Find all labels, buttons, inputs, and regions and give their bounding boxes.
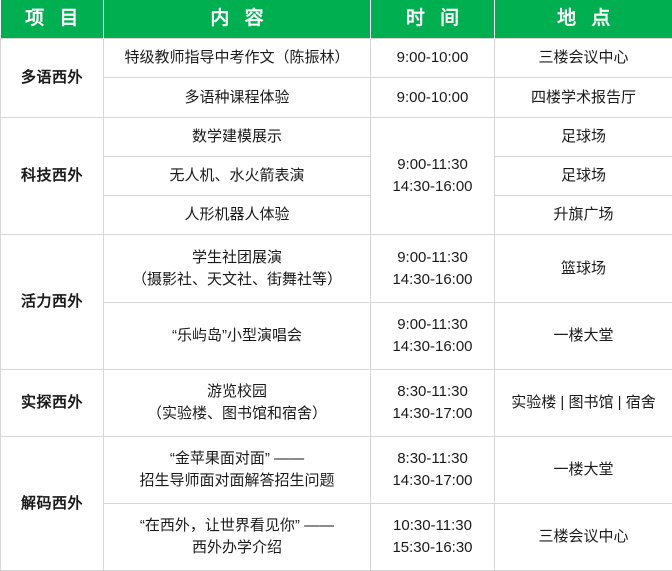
- table-row: 多语西外特级教师指导中考作文（陈振林）9:00-10:00三楼会议中心: [1, 39, 672, 78]
- location-cell: 篮球场: [495, 235, 672, 302]
- content-cell: 多语种课程体验: [104, 78, 371, 117]
- table-row: 解码西外“金苹果面对面” —— 招生导师面对面解答招生问题8:30-11:30 …: [1, 436, 672, 503]
- content-cell: “在西外，让世界看见你” —— 西外办学介绍: [104, 503, 371, 570]
- time-cell: 9:00-10:00: [371, 39, 495, 78]
- table-header-row: 项 目 内 容 时 间 地 点: [1, 0, 672, 39]
- project-cell: 多语西外: [1, 39, 104, 118]
- column-header-content: 内 容: [104, 0, 371, 39]
- activity-schedule-table: 项 目 内 容 时 间 地 点 多语西外特级教师指导中考作文（陈振林）9:00-…: [0, 0, 672, 571]
- table-body: 多语西外特级教师指导中考作文（陈振林）9:00-10:00三楼会议中心多语种课程…: [1, 39, 672, 571]
- time-cell: 8:30-11:30 14:30-17:00: [371, 369, 495, 436]
- location-cell: 足球场: [495, 156, 672, 195]
- location-cell: 一楼大堂: [495, 436, 672, 503]
- content-cell: 无人机、水火箭表演: [104, 156, 371, 195]
- location-cell: 三楼会议中心: [495, 39, 672, 78]
- project-cell: 科技西外: [1, 117, 104, 235]
- column-header-location: 地 点: [495, 0, 672, 39]
- project-cell: 解码西外: [1, 436, 104, 570]
- content-cell: 特级教师指导中考作文（陈振林）: [104, 39, 371, 78]
- location-cell: 升旗广场: [495, 196, 672, 235]
- content-cell: 人形机器人体验: [104, 196, 371, 235]
- time-cell: 10:30-11:30 15:30-16:30: [371, 503, 495, 570]
- content-cell: 游览校园 （实验楼、图书馆和宿舍）: [104, 369, 371, 436]
- time-cell: 9:00-11:30 14:30-16:00: [371, 117, 495, 235]
- time-cell: 9:00-10:00: [371, 78, 495, 117]
- table-header: 项 目 内 容 时 间 地 点: [1, 0, 672, 39]
- location-cell: 四楼学术报告厅: [495, 78, 672, 117]
- content-cell: “金苹果面对面” —— 招生导师面对面解答招生问题: [104, 436, 371, 503]
- location-cell: 实验楼 | 图书馆 | 宿舍: [495, 369, 672, 436]
- content-cell: “乐屿岛”小型演唱会: [104, 302, 371, 369]
- time-cell: 9:00-11:30 14:30-16:00: [371, 302, 495, 369]
- table-row: 实探西外游览校园 （实验楼、图书馆和宿舍）8:30-11:30 14:30-17…: [1, 369, 672, 436]
- content-cell: 学生社团展演 （摄影社、天文社、街舞社等）: [104, 235, 371, 302]
- column-header-project: 项 目: [1, 0, 104, 39]
- location-cell: 一楼大堂: [495, 302, 672, 369]
- location-cell: 三楼会议中心: [495, 503, 672, 570]
- project-cell: 实探西外: [1, 369, 104, 436]
- content-cell: 数学建模展示: [104, 117, 371, 156]
- project-cell: 活力西外: [1, 235, 104, 369]
- time-cell: 8:30-11:30 14:30-17:00: [371, 436, 495, 503]
- table-row: 科技西外数学建模展示9:00-11:30 14:30-16:00足球场: [1, 117, 672, 156]
- location-cell: 足球场: [495, 117, 672, 156]
- table-row: 活力西外学生社团展演 （摄影社、天文社、街舞社等）9:00-11:30 14:3…: [1, 235, 672, 302]
- time-cell: 9:00-11:30 14:30-16:00: [371, 235, 495, 302]
- column-header-time: 时 间: [371, 0, 495, 39]
